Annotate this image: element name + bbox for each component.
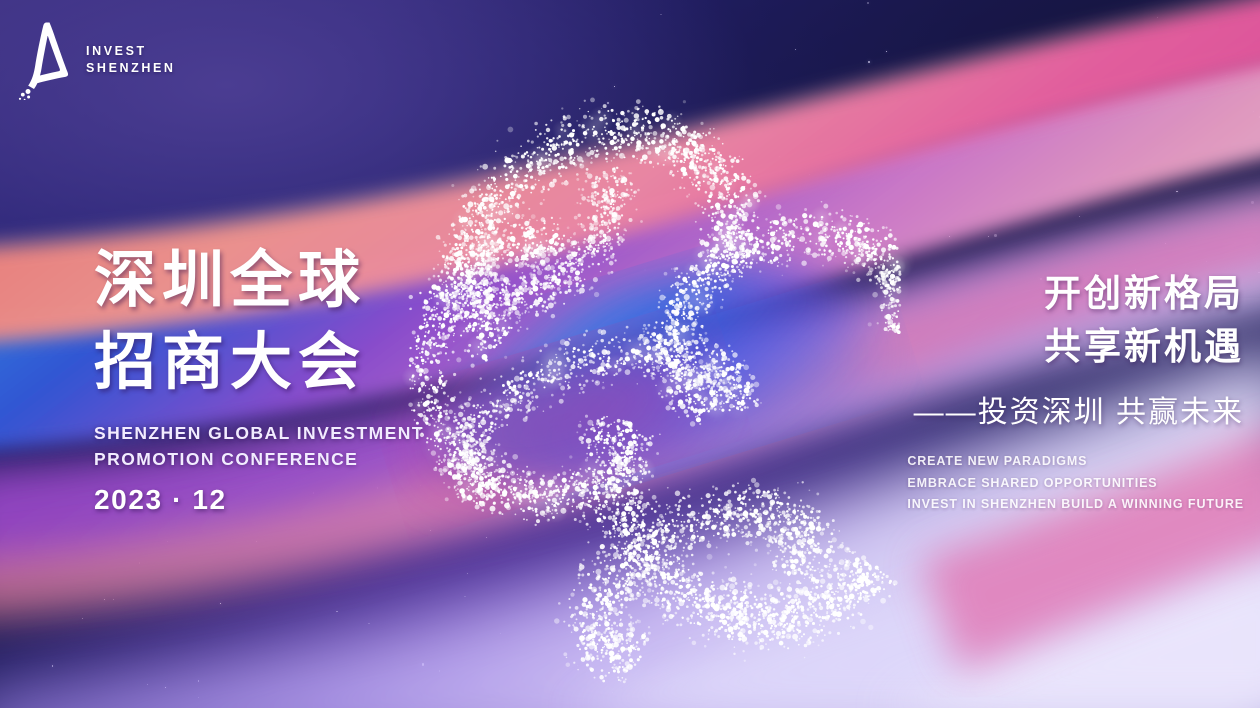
swirl-particle bbox=[563, 393, 565, 395]
swirl-particle bbox=[838, 597, 843, 602]
swirl-particle bbox=[453, 306, 455, 308]
swirl-particle bbox=[540, 510, 545, 515]
swirl-particle bbox=[736, 374, 738, 376]
swirl-particle bbox=[855, 261, 858, 264]
swirl-particle bbox=[453, 441, 455, 443]
swirl-particle bbox=[830, 228, 832, 230]
swirl-particle bbox=[719, 386, 722, 389]
swirl-particle bbox=[635, 363, 636, 364]
swirl-particle bbox=[472, 292, 474, 294]
swirl-particle bbox=[693, 356, 696, 359]
swirl-particle bbox=[443, 410, 446, 413]
swirl-particle bbox=[563, 144, 565, 146]
swirl-particle bbox=[445, 403, 447, 405]
swirl-particle bbox=[671, 400, 673, 402]
swirl-particle bbox=[742, 250, 744, 252]
swirl-particle bbox=[854, 241, 859, 246]
swirl-particle bbox=[678, 152, 680, 154]
swirl-particle bbox=[427, 406, 429, 408]
swirl-particle bbox=[676, 348, 678, 350]
swirl-particle bbox=[708, 200, 711, 203]
swirl-particle bbox=[685, 155, 687, 157]
swirl-particle bbox=[578, 482, 581, 485]
swirl-particle bbox=[457, 310, 459, 312]
swirl-particle bbox=[491, 512, 493, 514]
swirl-particle bbox=[640, 447, 643, 450]
swirl-particle bbox=[491, 213, 493, 215]
swirl-particle bbox=[470, 271, 473, 274]
swirl-particle bbox=[502, 234, 505, 237]
swirl-particle bbox=[690, 407, 694, 411]
swirl-particle bbox=[430, 385, 432, 387]
swirl-particle bbox=[445, 497, 449, 501]
swirl-particle bbox=[540, 371, 542, 373]
swirl-particle bbox=[696, 156, 699, 159]
swirl-particle bbox=[489, 237, 491, 239]
swirl-particle bbox=[845, 252, 848, 255]
swirl-particle bbox=[783, 233, 785, 235]
swirl-particle bbox=[601, 472, 603, 474]
swirl-particle bbox=[895, 315, 897, 317]
swirl-particle bbox=[485, 325, 488, 328]
swirl-particle bbox=[442, 343, 445, 346]
swirl-particle bbox=[636, 99, 641, 104]
swirl-particle bbox=[689, 267, 693, 271]
swirl-particle bbox=[844, 262, 846, 264]
swirl-particle bbox=[754, 237, 757, 240]
swirl-particle bbox=[474, 443, 476, 445]
star bbox=[614, 86, 616, 88]
swirl-particle bbox=[494, 379, 496, 381]
swirl-particle bbox=[593, 126, 595, 128]
swirl-particle bbox=[564, 341, 569, 346]
swirl-particle bbox=[479, 486, 481, 488]
swirl-particle bbox=[685, 327, 689, 331]
swirl-particle bbox=[651, 140, 656, 145]
swirl-particle bbox=[482, 334, 485, 337]
swirl-particle bbox=[493, 167, 496, 170]
swirl-particle bbox=[821, 216, 824, 219]
swirl-particle bbox=[522, 493, 527, 498]
swirl-particle bbox=[736, 209, 739, 212]
swirl-particle bbox=[433, 306, 435, 308]
swirl-particle bbox=[642, 118, 644, 120]
swirl-particle bbox=[710, 369, 713, 372]
swirl-particle bbox=[708, 619, 710, 621]
swirl-particle bbox=[647, 141, 650, 144]
swirl-particle bbox=[681, 153, 684, 156]
swirl-particle bbox=[596, 135, 597, 136]
swirl-particle bbox=[702, 402, 704, 404]
swirl-particle bbox=[666, 118, 669, 121]
swirl-particle bbox=[554, 154, 557, 157]
swirl-particle bbox=[611, 480, 612, 481]
swirl-particle bbox=[678, 275, 681, 278]
swirl-particle bbox=[699, 409, 703, 413]
swirl-particle bbox=[670, 129, 671, 130]
swirl-particle bbox=[478, 204, 480, 206]
swirl-particle bbox=[564, 129, 567, 132]
swirl-particle bbox=[547, 519, 550, 522]
swirl-particle bbox=[476, 239, 478, 241]
swirl-particle bbox=[580, 482, 582, 484]
swirl-particle bbox=[543, 247, 546, 250]
swirl-particle bbox=[863, 236, 866, 239]
swirl-particle bbox=[695, 307, 697, 309]
swirl-particle bbox=[606, 491, 609, 494]
swirl-particle bbox=[486, 210, 488, 212]
swirl-particle bbox=[594, 150, 596, 152]
swirl-particle bbox=[529, 232, 531, 234]
swirl-particle bbox=[465, 471, 468, 474]
swirl-particle bbox=[847, 267, 849, 269]
swirl-particle bbox=[727, 191, 729, 193]
swirl-particle bbox=[473, 461, 476, 464]
swirl-particle bbox=[552, 237, 554, 239]
swirl-particle bbox=[461, 501, 463, 503]
swirl-particle bbox=[493, 312, 495, 314]
swirl-particle bbox=[703, 284, 705, 286]
swirl-particle bbox=[842, 250, 845, 253]
swirl-particle bbox=[492, 495, 494, 497]
swirl-particle bbox=[454, 259, 455, 260]
swirl-particle bbox=[716, 244, 718, 246]
swirl-particle bbox=[504, 414, 508, 418]
swirl-particle bbox=[739, 246, 744, 251]
swirl-particle bbox=[549, 492, 554, 497]
swirl-particle bbox=[546, 165, 548, 167]
swirl-particle bbox=[683, 303, 684, 304]
swirl-particle bbox=[721, 196, 725, 200]
swirl-particle bbox=[714, 166, 720, 172]
swirl-particle bbox=[669, 130, 671, 132]
swirl-particle bbox=[477, 203, 479, 205]
swirl-particle bbox=[473, 421, 475, 423]
swirl-particle bbox=[718, 287, 721, 290]
swirl-particle bbox=[478, 183, 481, 186]
swirl-particle bbox=[740, 234, 743, 237]
swirl-particle bbox=[694, 144, 698, 148]
swirl-particle bbox=[690, 153, 691, 154]
swirl-particle bbox=[562, 165, 565, 168]
swirl-particle bbox=[643, 334, 645, 336]
swirl-particle bbox=[670, 355, 673, 358]
swirl-particle bbox=[598, 441, 600, 443]
swirl-particle bbox=[638, 360, 641, 363]
swirl-particle bbox=[717, 373, 719, 375]
swirl-particle bbox=[678, 362, 680, 364]
swirl-particle bbox=[891, 281, 896, 286]
swirl-particle bbox=[585, 132, 587, 134]
swirl-particle bbox=[624, 127, 625, 128]
swirl-particle bbox=[625, 457, 628, 460]
swirl-particle bbox=[645, 513, 647, 515]
swirl-particle bbox=[515, 179, 517, 181]
swirl-particle bbox=[543, 492, 546, 495]
swirl-particle bbox=[632, 497, 634, 499]
swirl-particle bbox=[679, 289, 683, 293]
swirl-particle bbox=[447, 292, 449, 294]
swirl-particle bbox=[461, 463, 463, 465]
swirl-particle bbox=[474, 313, 478, 317]
swirl-particle bbox=[830, 253, 833, 256]
swirl-particle bbox=[484, 456, 486, 458]
swirl-particle bbox=[705, 160, 708, 163]
swirl-particle bbox=[469, 494, 471, 496]
swirl-particle bbox=[585, 379, 588, 382]
swirl-particle bbox=[486, 250, 489, 253]
swirl-particle bbox=[494, 423, 496, 425]
swirl-particle bbox=[473, 322, 477, 326]
star bbox=[1190, 36, 1191, 37]
swirl-particle bbox=[718, 157, 721, 160]
swirl-particle bbox=[721, 279, 724, 282]
swirl-particle bbox=[708, 363, 711, 366]
swirl-particle bbox=[809, 641, 812, 644]
swirl-particle bbox=[686, 414, 689, 417]
swirl-particle bbox=[658, 343, 661, 346]
swirl-particle bbox=[712, 392, 715, 395]
swirl-particle bbox=[712, 247, 717, 252]
swirl-particle bbox=[682, 366, 684, 368]
swirl-particle bbox=[476, 471, 480, 475]
swirl-particle bbox=[530, 176, 533, 179]
swirl-particle bbox=[488, 177, 490, 179]
swirl-particle bbox=[677, 116, 679, 118]
swirl-particle bbox=[857, 262, 859, 264]
swirl-particle bbox=[892, 288, 894, 290]
swirl-particle bbox=[472, 491, 474, 493]
swirl-particle bbox=[465, 465, 468, 468]
swirl-particle bbox=[763, 255, 764, 256]
swirl-particle bbox=[503, 332, 507, 336]
swirl-particle bbox=[444, 265, 448, 269]
swirl-particle bbox=[544, 173, 546, 175]
swirl-particle bbox=[717, 227, 719, 229]
swirl-particle bbox=[552, 162, 555, 165]
swirl-particle bbox=[488, 282, 491, 285]
swirl-particle bbox=[486, 413, 489, 416]
swirl-particle bbox=[709, 167, 711, 169]
swirl-particle bbox=[445, 346, 447, 348]
swirl-particle bbox=[452, 477, 455, 480]
swirl-particle bbox=[688, 400, 692, 404]
swirl-particle bbox=[597, 370, 600, 373]
swirl-particle bbox=[509, 247, 511, 249]
swirl-particle bbox=[674, 304, 680, 310]
swirl-particle bbox=[659, 333, 661, 335]
swirl-particle bbox=[427, 332, 429, 334]
swirl-particle bbox=[508, 307, 510, 309]
swirl-particle bbox=[454, 297, 456, 299]
swirl-particle bbox=[845, 227, 847, 229]
swirl-particle bbox=[705, 287, 709, 291]
swirl-particle bbox=[658, 347, 660, 349]
swirl-particle bbox=[661, 352, 663, 354]
swirl-particle bbox=[700, 378, 703, 381]
swirl-particle bbox=[438, 353, 440, 355]
swirl-particle bbox=[583, 350, 586, 353]
swirl-particle bbox=[524, 153, 527, 156]
swirl-particle bbox=[487, 298, 489, 300]
swirl-particle bbox=[466, 245, 467, 246]
swirl-particle bbox=[670, 362, 676, 368]
swirl-particle bbox=[560, 501, 562, 503]
swirl-particle bbox=[670, 379, 672, 381]
swirl-particle bbox=[462, 290, 463, 291]
swirl-particle bbox=[549, 182, 555, 188]
swirl-particle bbox=[600, 465, 602, 467]
swirl-particle bbox=[438, 456, 440, 458]
swirl-particle bbox=[712, 390, 714, 392]
swirl-particle bbox=[559, 399, 564, 404]
swirl-particle bbox=[673, 150, 675, 152]
swirl-particle bbox=[721, 213, 726, 218]
swirl-particle bbox=[487, 257, 492, 262]
swirl-particle bbox=[468, 204, 470, 206]
swirl-particle bbox=[584, 358, 587, 361]
swirl-particle bbox=[757, 199, 760, 202]
swirl-particle bbox=[707, 200, 709, 202]
swirl-particle bbox=[708, 132, 711, 135]
swirl-particle bbox=[485, 486, 487, 488]
swirl-particle bbox=[565, 180, 567, 182]
swirl-particle bbox=[731, 256, 734, 259]
swirl-particle bbox=[491, 200, 494, 203]
swirl-particle bbox=[675, 355, 677, 357]
swirl-particle bbox=[884, 296, 886, 298]
swirl-particle bbox=[546, 143, 549, 146]
swirl-particle bbox=[721, 235, 725, 239]
swirl-particle bbox=[510, 160, 512, 162]
swirl-particle bbox=[536, 161, 538, 163]
swirl-particle bbox=[432, 407, 435, 410]
swirl-particle bbox=[487, 184, 489, 186]
swirl-particle bbox=[539, 486, 541, 488]
swirl-particle bbox=[499, 411, 502, 414]
swirl-particle bbox=[549, 490, 552, 493]
swirl-particle bbox=[684, 387, 686, 389]
swirl-particle bbox=[658, 301, 660, 303]
swirl-particle bbox=[514, 188, 517, 191]
swirl-particle bbox=[625, 369, 631, 375]
swirl-particle bbox=[711, 193, 714, 196]
swirl-particle bbox=[706, 374, 708, 376]
swirl-particle bbox=[618, 371, 620, 373]
swirl-particle bbox=[678, 355, 680, 357]
swirl-particle bbox=[856, 215, 859, 218]
swirl-particle bbox=[550, 511, 551, 512]
swirl-particle bbox=[688, 359, 690, 361]
swirl-particle bbox=[673, 164, 675, 166]
swirl-particle bbox=[486, 185, 491, 190]
swirl-particle bbox=[522, 371, 525, 374]
swirl-particle bbox=[728, 240, 733, 245]
swirl-particle bbox=[817, 253, 820, 256]
swirl-particle bbox=[637, 476, 639, 478]
star bbox=[104, 599, 105, 600]
swirl-particle bbox=[479, 210, 483, 214]
swirl-particle bbox=[697, 279, 699, 281]
star bbox=[82, 618, 83, 619]
swirl-particle bbox=[619, 456, 622, 459]
swirl-particle bbox=[474, 469, 476, 471]
swirl-particle bbox=[508, 184, 511, 187]
swirl-particle bbox=[550, 182, 552, 184]
swirl-particle bbox=[753, 192, 758, 197]
swirl-particle bbox=[716, 229, 718, 231]
swirl-particle bbox=[776, 230, 778, 232]
swirl-particle bbox=[704, 373, 710, 379]
swirl-particle bbox=[444, 456, 446, 458]
swirl-particle bbox=[701, 366, 703, 368]
swirl-particle bbox=[491, 477, 496, 482]
swirl-particle bbox=[452, 463, 454, 465]
swirl-particle bbox=[551, 375, 554, 378]
swirl-particle bbox=[468, 329, 469, 330]
swirl-particle bbox=[639, 464, 641, 466]
swirl-particle bbox=[461, 439, 466, 444]
swirl-particle bbox=[668, 144, 671, 147]
swirl-particle bbox=[488, 337, 489, 338]
swirl-particle bbox=[888, 244, 892, 248]
swirl-particle bbox=[602, 373, 605, 376]
swirl-particle bbox=[688, 599, 690, 601]
swirl-particle bbox=[471, 484, 474, 487]
swirl-particle bbox=[493, 449, 496, 452]
swirl-particle bbox=[756, 243, 759, 246]
swirl-particle bbox=[843, 237, 845, 239]
swirl-particle bbox=[437, 275, 439, 277]
swirl-particle bbox=[896, 278, 900, 282]
swirl-particle bbox=[696, 298, 698, 300]
swirl-particle bbox=[454, 287, 457, 290]
swirl-particle bbox=[686, 373, 689, 376]
swirl-particle bbox=[796, 590, 800, 594]
swirl-particle bbox=[665, 339, 667, 341]
swirl-particle bbox=[486, 486, 490, 490]
swirl-particle bbox=[517, 243, 520, 246]
swirl-particle bbox=[693, 364, 695, 366]
swirl-particle bbox=[511, 154, 514, 157]
swirl-particle bbox=[707, 274, 709, 276]
swirl-particle bbox=[589, 493, 591, 495]
swirl-particle bbox=[530, 192, 532, 194]
swirl-particle bbox=[647, 352, 649, 354]
swirl-particle bbox=[483, 389, 486, 392]
swirl-particle bbox=[468, 344, 471, 347]
swirl-particle bbox=[729, 237, 732, 240]
swirl-particle bbox=[525, 236, 527, 238]
swirl-particle bbox=[761, 240, 764, 243]
swirl-particle bbox=[500, 337, 502, 339]
swirl-particle bbox=[605, 483, 608, 486]
swirl-particle bbox=[722, 170, 725, 173]
swirl-particle bbox=[888, 323, 890, 325]
swirl-particle bbox=[875, 258, 877, 260]
swirl-particle bbox=[679, 301, 681, 303]
swirl-particle bbox=[739, 405, 741, 407]
swirl-particle bbox=[469, 188, 474, 193]
swirl-particle bbox=[678, 151, 680, 153]
swirl-particle bbox=[476, 262, 480, 266]
swirl-particle bbox=[486, 458, 488, 460]
swirl-particle bbox=[714, 391, 716, 393]
swirl-particle bbox=[629, 456, 632, 459]
swirl-particle bbox=[743, 402, 745, 404]
swirl-particle bbox=[486, 436, 490, 440]
swirl-particle bbox=[458, 474, 460, 476]
